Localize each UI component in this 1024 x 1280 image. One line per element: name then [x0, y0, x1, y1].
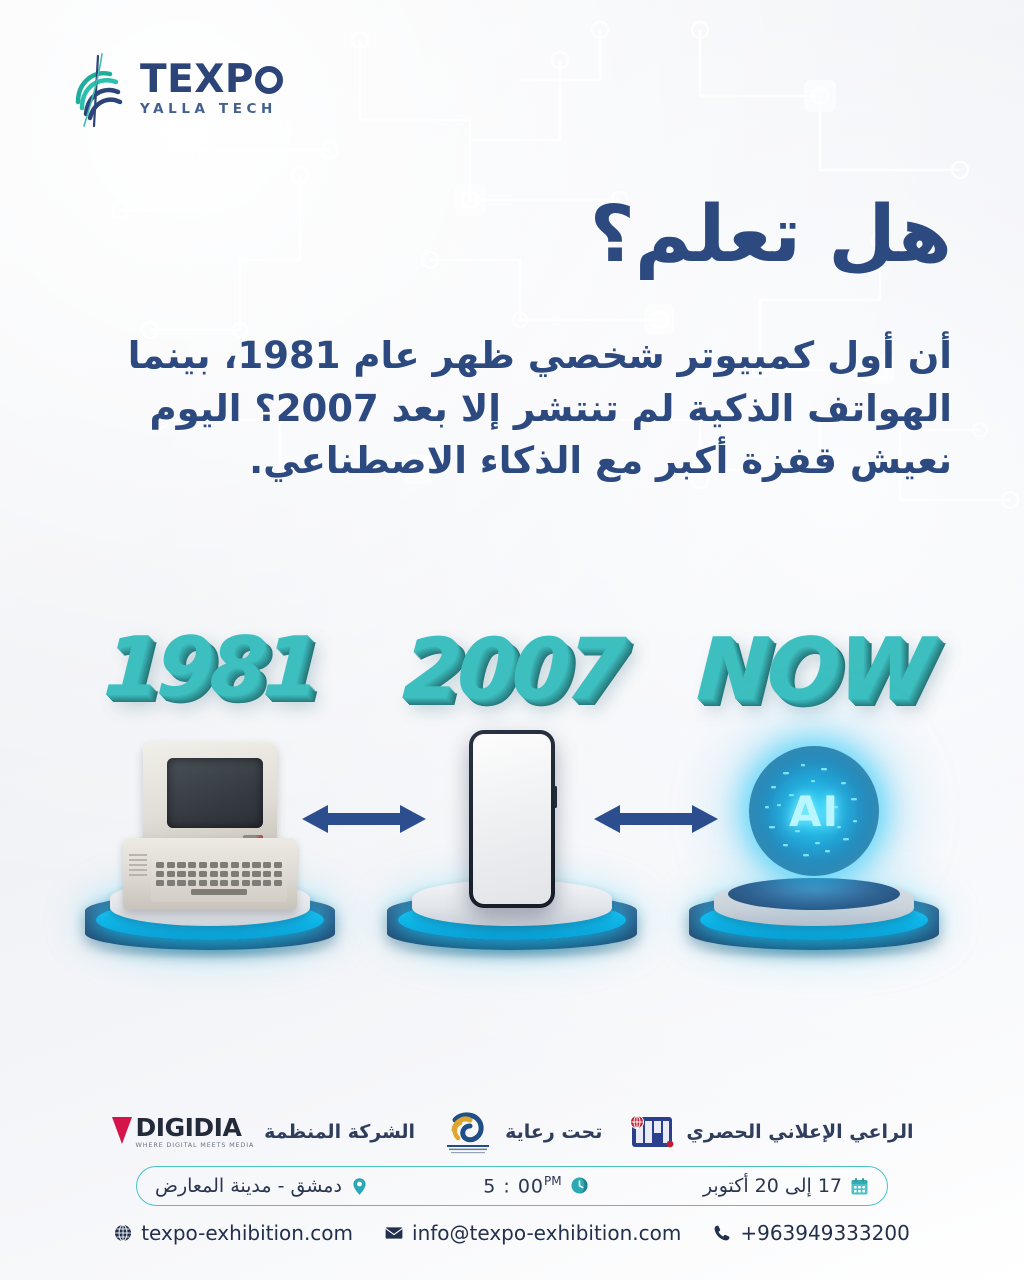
sponsor-row: الراعي الإعلاني الحصري تحت رعاية [0, 1104, 1024, 1160]
envelope-icon [385, 1224, 403, 1242]
double-arrow-icon [298, 802, 430, 836]
keyboard-row [156, 871, 282, 877]
event-time-text: 5 : 00PM [483, 1174, 561, 1197]
phone-screen [473, 734, 551, 904]
phone-icon [713, 1224, 731, 1242]
sponsor-organizer: الشركة المنظمة DIGIDIA WHERE DIGITAL MEE… [111, 1115, 416, 1149]
keyboard [151, 858, 287, 902]
calendar-icon [850, 1177, 869, 1196]
event-location-text: دمشق - مدينة المعارض [155, 1175, 342, 1197]
timeline-stage-2007: 2007 [362, 612, 662, 972]
event-location: دمشق - مدينة المعارض [155, 1175, 369, 1197]
crt-monitor [143, 742, 277, 848]
podium-inner-dish [728, 878, 900, 910]
ai-sphere-label: AI [789, 787, 839, 836]
page-title: هل تعلم؟ [590, 196, 952, 274]
texpo-swirl-icon [68, 48, 130, 128]
crt-screen [167, 758, 263, 828]
digidia-v-mark-icon [111, 1115, 133, 1145]
timeline-stage-1981: 1981 [60, 612, 360, 972]
vintage-desktop-computer-icon [121, 742, 299, 910]
contact-phone[interactable]: +963949333200 [713, 1221, 909, 1245]
podium-now [688, 876, 940, 954]
contact-email[interactable]: info@texpo-exhibition.com [385, 1221, 681, 1245]
sponsor-exclusive-advertiser: الراعي الإعلاني الحصري [628, 1113, 913, 1151]
digidia-subtitle: WHERE DIGITAL MEETS MEDIA [136, 1142, 255, 1149]
logo-wordmark: TEXP [140, 60, 283, 99]
year-label-1981: 1981 [58, 620, 363, 715]
event-time: 5 : 00PM [483, 1174, 588, 1197]
logo-o-ring-icon [255, 66, 283, 94]
sponsor-label: تحت رعاية [505, 1121, 602, 1143]
year-label-now: NOW [661, 620, 966, 720]
double-arrow-icon [590, 802, 722, 836]
year-label-2007: 2007 [359, 620, 664, 718]
timeline-stage-now: NOW AI [664, 612, 964, 972]
body-paragraph: أن أول كمبيوتر شخصي ظهر عام 1981، بينما … [116, 330, 952, 488]
event-time-meridiem: PM [544, 1174, 562, 1188]
ministry-of-communications-logo-icon [441, 1108, 495, 1156]
globe-icon [114, 1224, 132, 1242]
clock-icon [570, 1176, 589, 1195]
sponsor-patronage: تحت رعاية [441, 1108, 602, 1156]
timeline-section: 1981 [0, 612, 1024, 972]
logo-wordmark-group: TEXP YALLA TECH [140, 60, 283, 117]
vent-grille [129, 854, 147, 876]
event-date: 17 إلى 20 أكتوبر [703, 1175, 869, 1197]
location-pin-icon [350, 1177, 369, 1196]
keyboard-row [156, 862, 282, 868]
keyboard-row-spacebar [156, 889, 282, 895]
phone-side-button [554, 786, 557, 808]
event-info-bar: 17 إلى 20 أكتوبر 5 : 00PM دمشق - مدينة ا… [136, 1166, 888, 1206]
logo-tagline: YALLA TECH [140, 103, 283, 117]
contact-email-text: info@texpo-exhibition.com [412, 1221, 681, 1245]
event-date-text: 17 إلى 20 أكتوبر [703, 1175, 842, 1197]
poster-canvas: TEXP YALLA TECH هل تعلم؟ أن أول كمبيوتر … [0, 0, 1024, 1280]
contact-website[interactable]: texpo-exhibition.com [114, 1221, 353, 1245]
logo-wordmark-text: TEXP [140, 60, 254, 99]
keyboard-row [156, 880, 282, 886]
digidia-name: DIGIDIA [136, 1115, 255, 1140]
event-time-value: 5 : 00 [483, 1176, 544, 1198]
contact-bar: texpo-exhibition.com info@texpo-exhibiti… [0, 1216, 1024, 1250]
smartphone-icon [469, 730, 555, 908]
sponsor-label: الشركة المنظمة [264, 1121, 415, 1143]
ai-sphere-icon: AI [749, 746, 879, 876]
digidia-text-group: DIGIDIA WHERE DIGITAL MEETS MEDIA [136, 1115, 255, 1149]
contact-phone-text: +963949333200 [740, 1221, 909, 1245]
brand-logo[interactable]: TEXP YALLA TECH [68, 48, 283, 128]
digidia-logo-icon: DIGIDIA WHERE DIGITAL MEETS MEDIA [111, 1115, 255, 1149]
alaan-media-logo-icon [628, 1113, 676, 1151]
contact-website-text: texpo-exhibition.com [141, 1221, 353, 1245]
computer-base [123, 838, 297, 910]
sponsor-label: الراعي الإعلاني الحصري [686, 1121, 913, 1143]
